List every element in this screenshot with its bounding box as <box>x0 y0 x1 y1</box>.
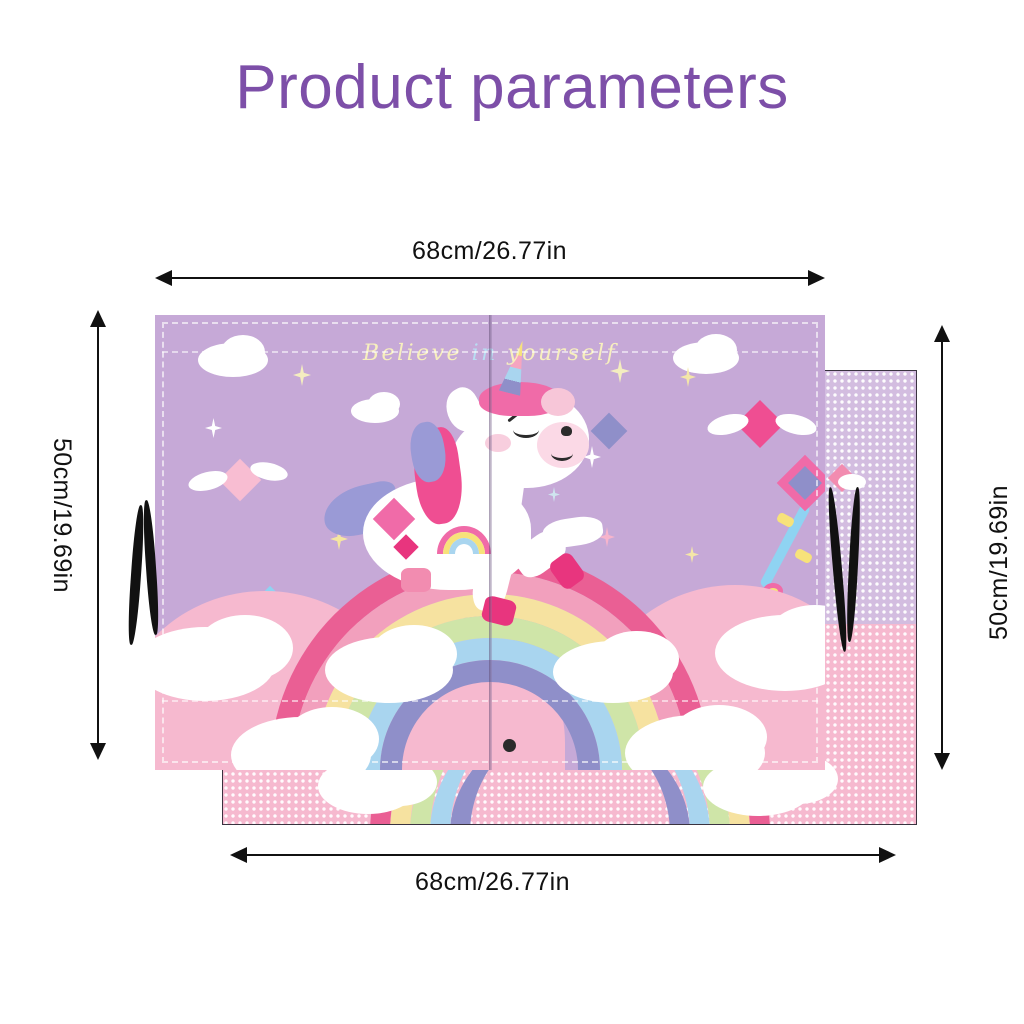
unicorn-eye <box>513 422 539 438</box>
stitch-line-top <box>162 351 818 353</box>
left-dimension-line <box>97 325 99 745</box>
unicorn-hoof <box>401 568 431 592</box>
unicorn-front-leg <box>541 514 604 550</box>
slogan-word-in: in <box>472 341 498 366</box>
bottom-arrow-left-icon <box>230 847 247 863</box>
foreground-cloud <box>285 707 379 770</box>
right-dimension-line <box>941 340 943 755</box>
bottom-arrow-right-icon <box>879 847 896 863</box>
right-height-label: 50cm/19.69in <box>985 485 1014 640</box>
product-front-panel: Believe in yourself <box>155 315 825 770</box>
back-panel-wing-icon <box>838 474 866 490</box>
left-arrow-down-icon <box>90 743 106 760</box>
page-title: Product parameters <box>0 52 1024 123</box>
unicorn-nostril <box>561 426 572 436</box>
slogan-word-yourself: yourself <box>507 341 617 366</box>
product-parameters-diagram: Product parameters 68cm/26.77in 68cm/26.… <box>0 0 1024 1024</box>
slogan-word-believe: Believe <box>363 341 462 366</box>
wing-left-icon <box>186 467 229 494</box>
right-arrow-up-icon <box>934 325 950 342</box>
foreground-cloud <box>197 615 293 681</box>
foreground-cloud <box>671 705 767 769</box>
sparkle-icon <box>293 364 311 386</box>
top-width-label: 68cm/26.77in <box>412 237 567 266</box>
left-height-label: 50cm/19.69in <box>47 438 76 593</box>
unicorn-mane-tuft <box>541 388 575 416</box>
magic-wand-band <box>794 548 814 565</box>
unicorn-illustration <box>355 370 615 630</box>
foreground-cloud <box>371 625 457 683</box>
top-arrow-right-icon <box>808 270 825 286</box>
bottom-width-label: 68cm/26.77in <box>415 868 570 897</box>
foreground-cloud <box>595 631 679 687</box>
top-arrow-left-icon <box>155 270 172 286</box>
stitch-line-bottom <box>162 700 818 702</box>
wing-left-icon <box>705 410 750 439</box>
left-arrow-up-icon <box>90 310 106 327</box>
unicorn-hoof <box>480 595 517 628</box>
wing-right-icon <box>773 410 818 439</box>
snap-button[interactable] <box>503 739 516 752</box>
right-arrow-down-icon <box>934 753 950 770</box>
top-dimension-line <box>163 277 817 279</box>
unicorn-mouth <box>551 446 573 461</box>
bottom-dimension-line <box>238 854 888 856</box>
sparkle-icon <box>205 418 222 438</box>
